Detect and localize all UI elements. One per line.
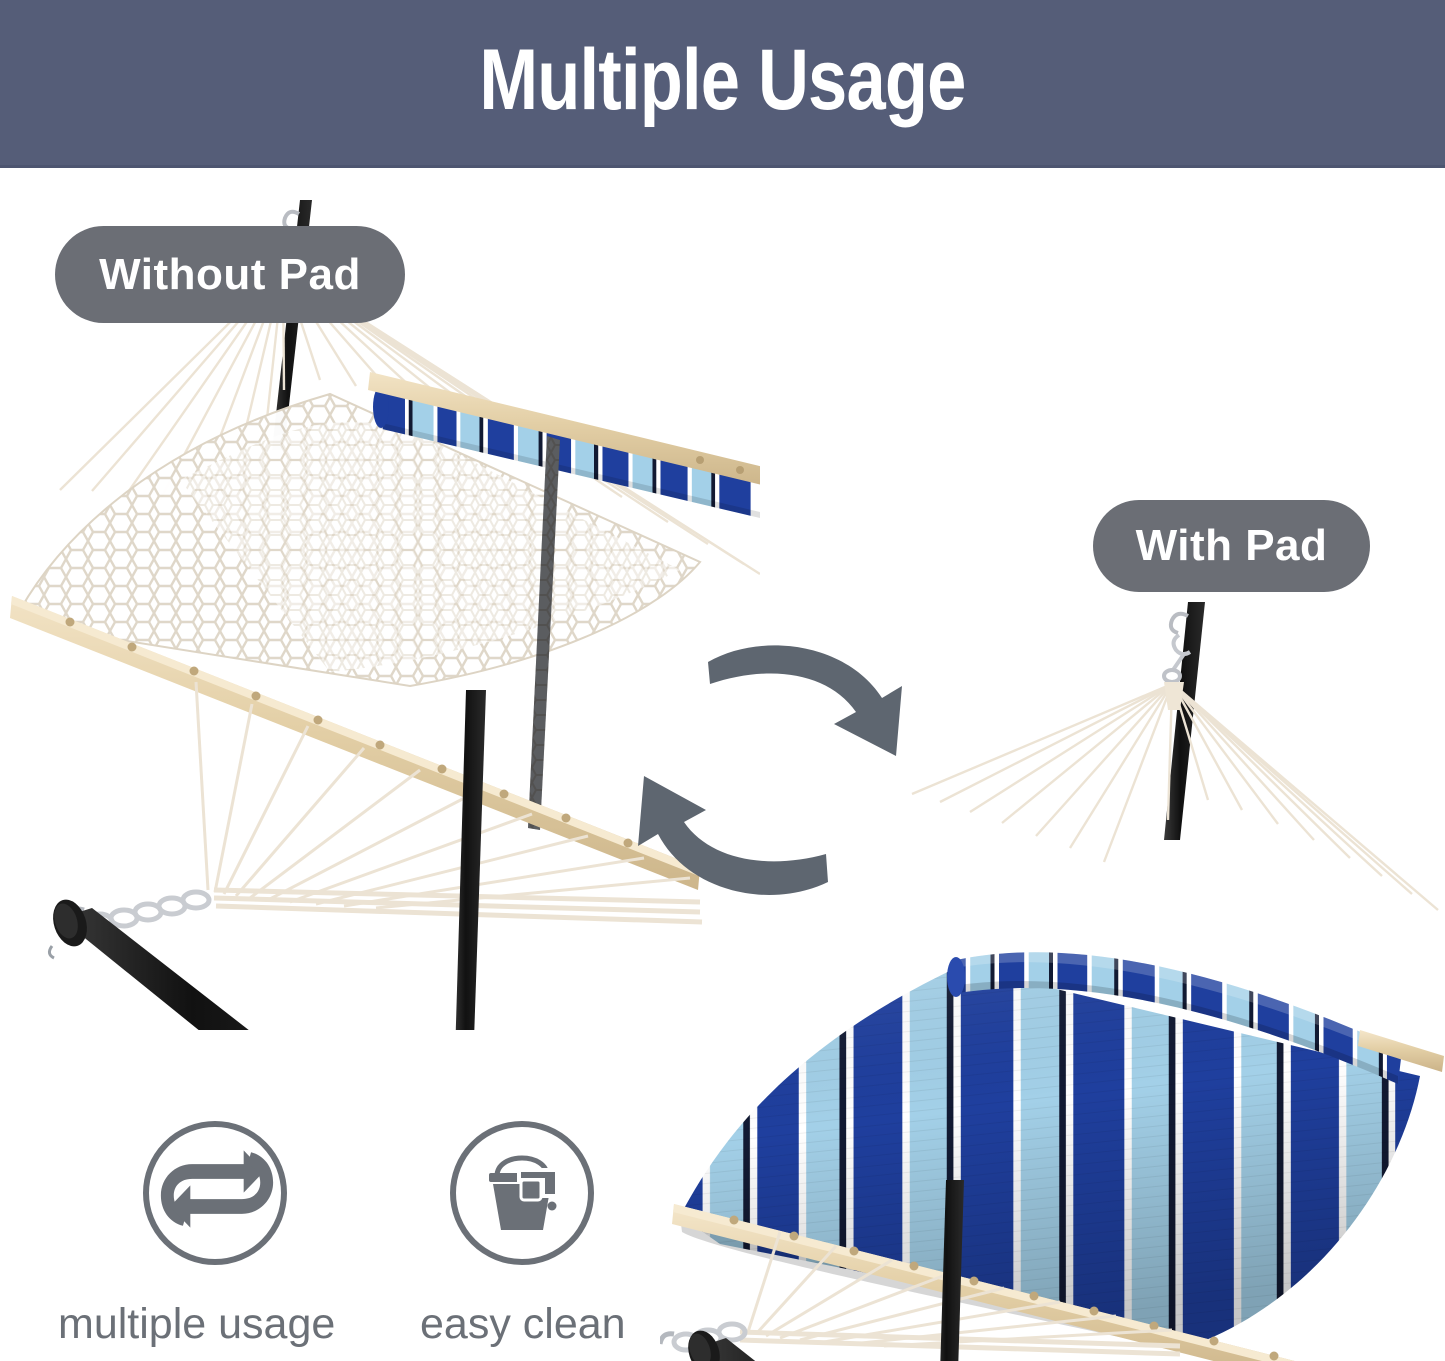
feature-multiple-usage: [140, 1118, 290, 1273]
badge-without-pad: Without Pad: [55, 226, 405, 323]
feature-label-multiple-usage: multiple usage: [58, 1300, 335, 1349]
arrow-without-to-with-pad-icon: [708, 645, 902, 756]
feature-easy-clean: [447, 1118, 597, 1273]
feature-label-easy-clean: easy clean: [420, 1300, 626, 1349]
repeat-cycle-icon: [140, 1118, 290, 1268]
cycle-arrows-group: [600, 620, 940, 920]
product-infographic-page: Multiple Usage: [0, 0, 1445, 1361]
bucket-cloth-icon: [447, 1118, 597, 1268]
header-banner: Multiple Usage: [0, 0, 1445, 168]
badge-with-pad: With Pad: [1093, 500, 1370, 592]
arrow-with-to-without-pad-icon: [638, 776, 828, 895]
hammock-stand-left: [47, 690, 562, 1030]
page-title: Multiple Usage: [479, 37, 965, 123]
